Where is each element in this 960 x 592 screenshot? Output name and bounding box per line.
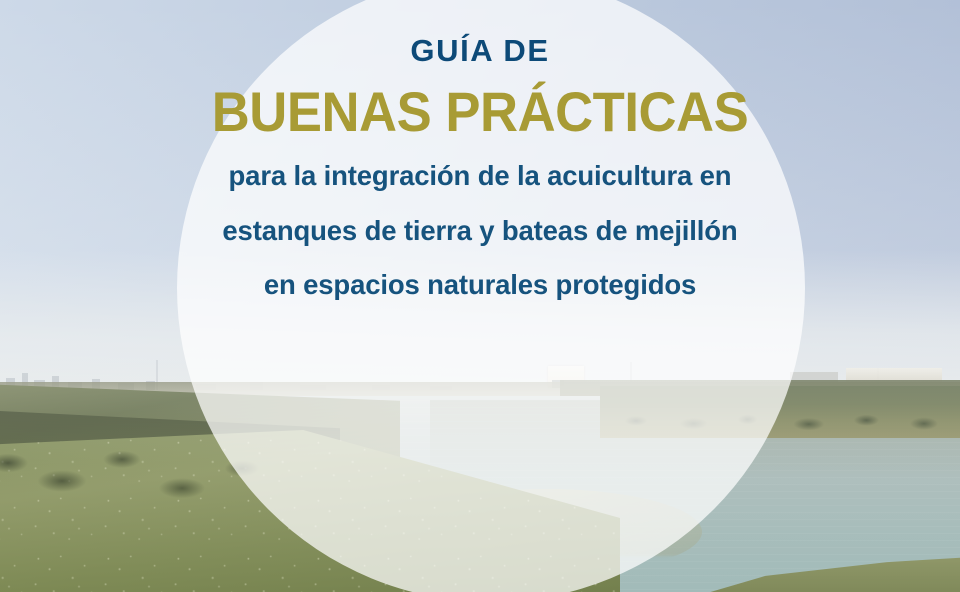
right-embankment-shrubs (600, 404, 960, 432)
poster-cover: GUÍA DE BUENAS PRÁCTICAS para la integra… (0, 0, 960, 592)
page-title: BUENAS PRÁCTICAS (29, 84, 931, 140)
subtitle-line-3: en espacios naturales protegidos (0, 271, 960, 299)
title-block: GUÍA DE BUENAS PRÁCTICAS para la integra… (0, 34, 960, 299)
guide-kicker: GUÍA DE (0, 34, 960, 68)
foreground-shrubs (0, 436, 290, 526)
subtitle-line-2: estanques de tierra y bateas de mejillón (0, 217, 960, 245)
subtitle-line-1: para la integración de la acuicultura en (0, 162, 960, 190)
